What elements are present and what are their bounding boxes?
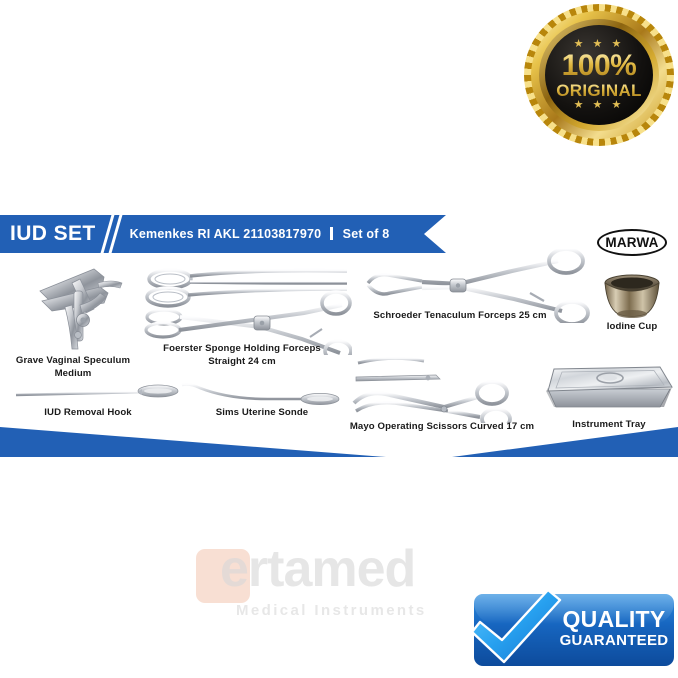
double-slash-divider-icon xyxy=(96,215,130,253)
set-count: Set of 8 xyxy=(343,227,390,241)
marwa-brand-logo: MARWA xyxy=(597,229,667,256)
checkmark-icon xyxy=(462,588,566,670)
stars-top-icon: ★ ★ ★ xyxy=(574,39,625,50)
quality-line-2: GUARANTEED xyxy=(560,631,669,651)
banner-separator-icon xyxy=(330,227,333,240)
quality-badge-text: QUALITY GUARANTEED xyxy=(558,600,670,660)
mayo-operating-scissors-image xyxy=(352,355,534,423)
mayo-operating-scissors-label: Mayo Operating Scissors Curved 17 cm xyxy=(330,421,554,434)
instrument-tray-label: Instrument Tray xyxy=(548,419,670,432)
schroeder-tenaculum-forceps-label: Schroeder Tenaculum Forceps 25 cm xyxy=(355,310,565,323)
badge-quality-guaranteed: QUALITY GUARANTEED xyxy=(462,588,674,670)
badge-black-core: ★ ★ ★ 100% ORIGINAL ★ ★ ★ xyxy=(545,25,653,125)
product-header-banner: IUD SET Kemenkes RI AKL 21103817970 Set … xyxy=(0,215,446,253)
iodine-cup-label: Iodine Cup xyxy=(582,321,678,334)
quality-line-1: QUALITY xyxy=(562,608,665,631)
page-title: IUD SET xyxy=(10,222,96,246)
iud-removal-hook-label: IUD Removal Hook xyxy=(8,407,168,420)
marwa-logo-text: MARWA xyxy=(605,235,658,250)
watermark-brand-text: ertamed xyxy=(220,543,415,595)
instrument-tray-image xyxy=(540,361,676,419)
bottom-left-blue-wedge xyxy=(0,427,386,457)
sims-uterine-sonde-label: Sims Uterine Sonde xyxy=(182,407,342,420)
badge-percent-text: 100% xyxy=(562,51,637,81)
iodine-cup-image xyxy=(602,273,662,319)
badge-100-percent-original: ★ ★ ★ 100% ORIGINAL ★ ★ ★ xyxy=(524,4,674,146)
watermark-square-icon xyxy=(196,549,250,603)
banner-subtitle: Kemenkes RI AKL 21103817970 Set of 8 xyxy=(130,227,390,241)
iud-removal-hook-image xyxy=(14,379,182,407)
sims-uterine-sonde-image xyxy=(178,379,346,407)
badge-original-text: ORIGINAL xyxy=(556,82,642,100)
registration-number: Kemenkes RI AKL 21103817970 xyxy=(130,227,322,241)
foerster-sponge-holding-forceps-image xyxy=(142,257,352,355)
stars-bottom-icon: ★ ★ ★ xyxy=(574,100,625,111)
foerster-sponge-holding-forceps-label: Foerster Sponge Holding Forceps Straight… xyxy=(136,343,348,369)
grave-vaginal-speculum-image xyxy=(20,257,132,355)
product-panel: ertamed Medical Instruments IUD SET Keme… xyxy=(0,215,678,477)
grave-vaginal-speculum-label: Grave Vaginal Speculum Medium xyxy=(3,355,143,381)
watermark-subtitle-text: Medical Instruments xyxy=(236,603,427,618)
